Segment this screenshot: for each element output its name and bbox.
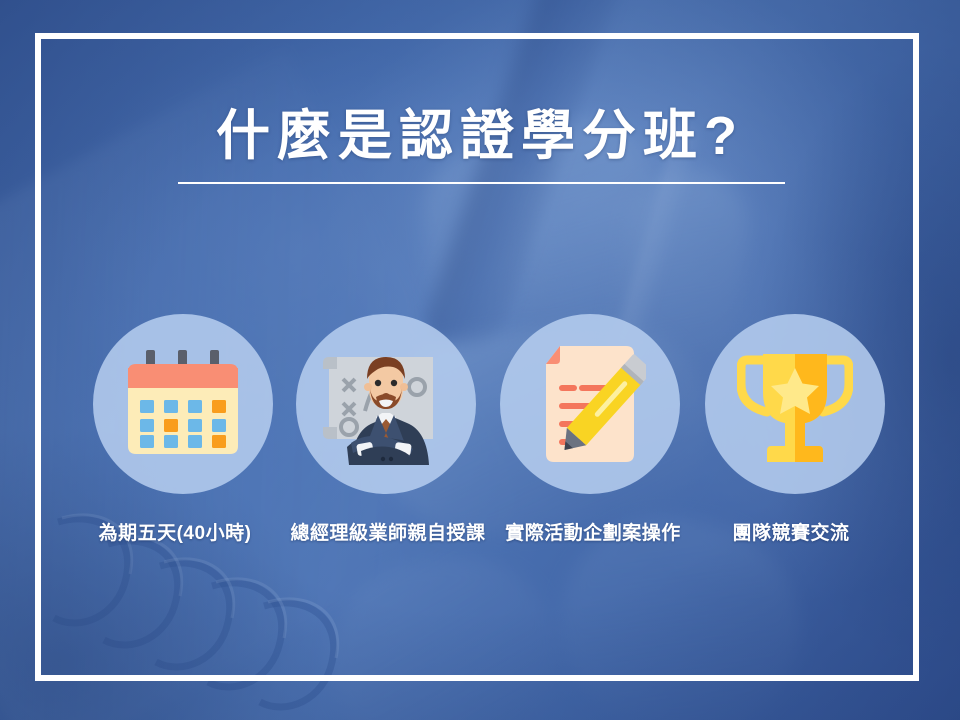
title-container: 什麼是認證學分班?: [0, 106, 960, 166]
feature-item-duration[interactable]: [93, 314, 273, 494]
feature-item-instructor[interactable]: [296, 314, 476, 494]
feature-icon-row: [0, 314, 960, 496]
presentation-slide: 什麼是認證學分班?: [0, 0, 960, 720]
feature-caption-planning: 實際活動企劃案操作: [505, 518, 681, 545]
feature-caption-competition: 團隊競賽交流: [732, 518, 849, 545]
calendar-icon: [93, 314, 273, 494]
feature-caption-row: 為期五天(40小時) 總經理級業師親自授課 實際活動企劃案操作 團隊競賽交流: [0, 518, 960, 548]
document-pencil-icon: [500, 314, 680, 494]
feature-caption-instructor: 總經理級業師親自授課: [290, 518, 485, 545]
feature-caption-duration: 為期五天(40小時): [99, 518, 252, 545]
trophy-icon: [705, 314, 885, 494]
title-underline: [178, 182, 785, 184]
page-title: 什麼是認證學分班?: [0, 106, 960, 166]
businessman-strategy-icon: [296, 314, 476, 494]
feature-item-planning[interactable]: [500, 314, 680, 494]
feature-item-competition[interactable]: [705, 314, 885, 494]
